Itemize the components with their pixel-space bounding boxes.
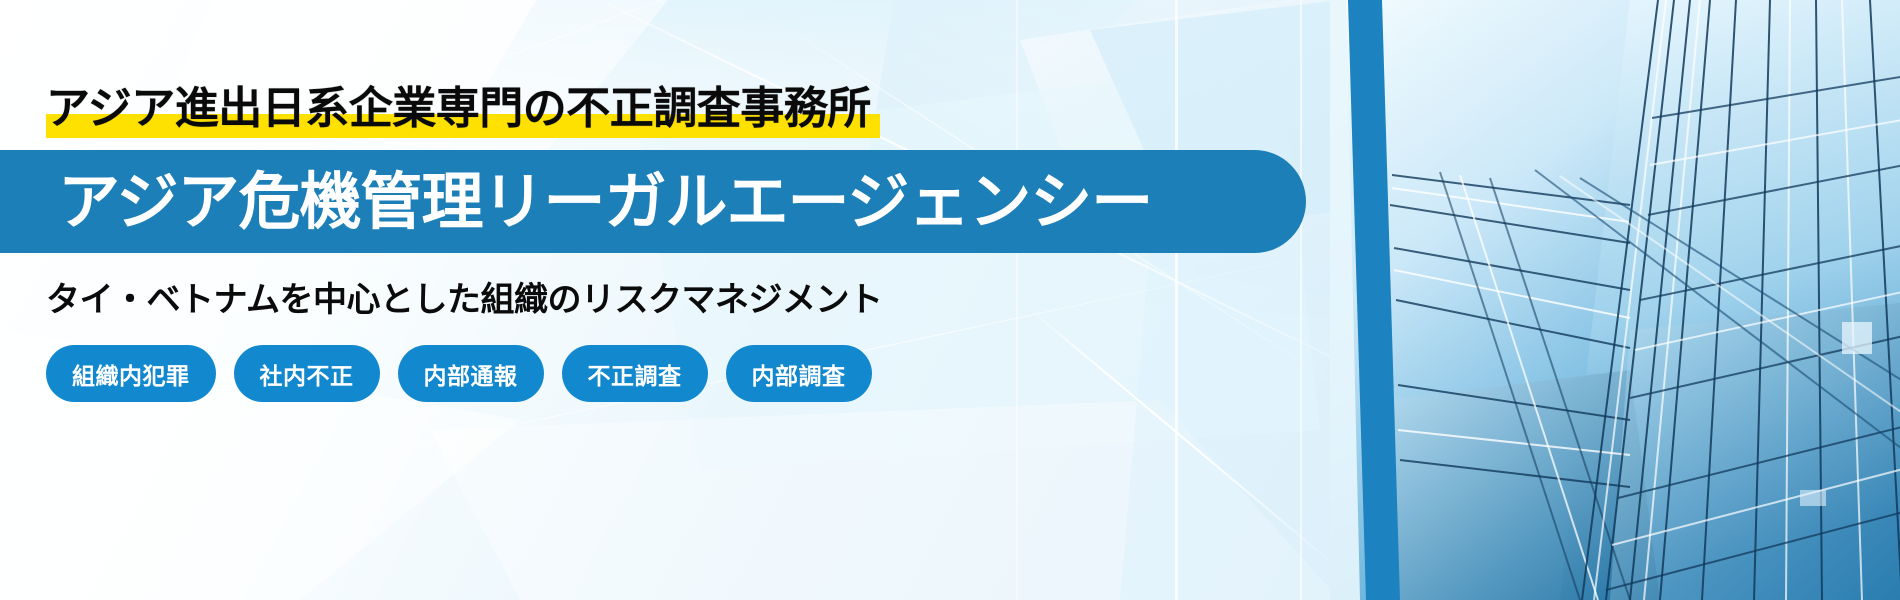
tag-pill[interactable]: 社内不正 bbox=[234, 345, 380, 402]
tag-pill-label: 組織内犯罪 bbox=[72, 357, 190, 391]
glass-facade-svg bbox=[1330, 0, 1900, 600]
tag-pill-label: 社内不正 bbox=[260, 357, 354, 391]
tag-pill-label: 内部通報 bbox=[424, 357, 518, 391]
subtitle-text: タイ・ベトナムを中心とした組織のリスクマネジメント bbox=[46, 272, 882, 321]
title-banner: アジア危機管理リーガルエージェンシー bbox=[0, 150, 1306, 253]
hero-banner: アジア進出日系企業専門の不正調査事務所 アジア危機管理リーガルエージェンシー タ… bbox=[0, 0, 1900, 600]
tagline: アジア進出日系企業専門の不正調査事務所 bbox=[46, 78, 871, 140]
title-text: アジア危機管理リーガルエージェンシー bbox=[58, 171, 1152, 233]
tag-pill[interactable]: 内部調査 bbox=[726, 345, 872, 402]
hero-content: アジア進出日系企業専門の不正調査事務所 アジア危機管理リーガルエージェンシー タ… bbox=[0, 0, 1340, 600]
tag-pill[interactable]: 組織内犯罪 bbox=[46, 345, 216, 402]
tagline-text: アジア進出日系企業専門の不正調査事務所 bbox=[46, 87, 871, 131]
tag-pill[interactable]: 内部通報 bbox=[398, 345, 544, 402]
office-building-photo bbox=[1330, 0, 1900, 600]
tag-pill[interactable]: 不正調査 bbox=[562, 345, 708, 402]
tag-list: 組織内犯罪 社内不正 内部通報 不正調査 内部調査 bbox=[46, 345, 872, 402]
tag-pill-label: 内部調査 bbox=[752, 357, 846, 391]
tag-pill-label: 不正調査 bbox=[588, 357, 682, 391]
